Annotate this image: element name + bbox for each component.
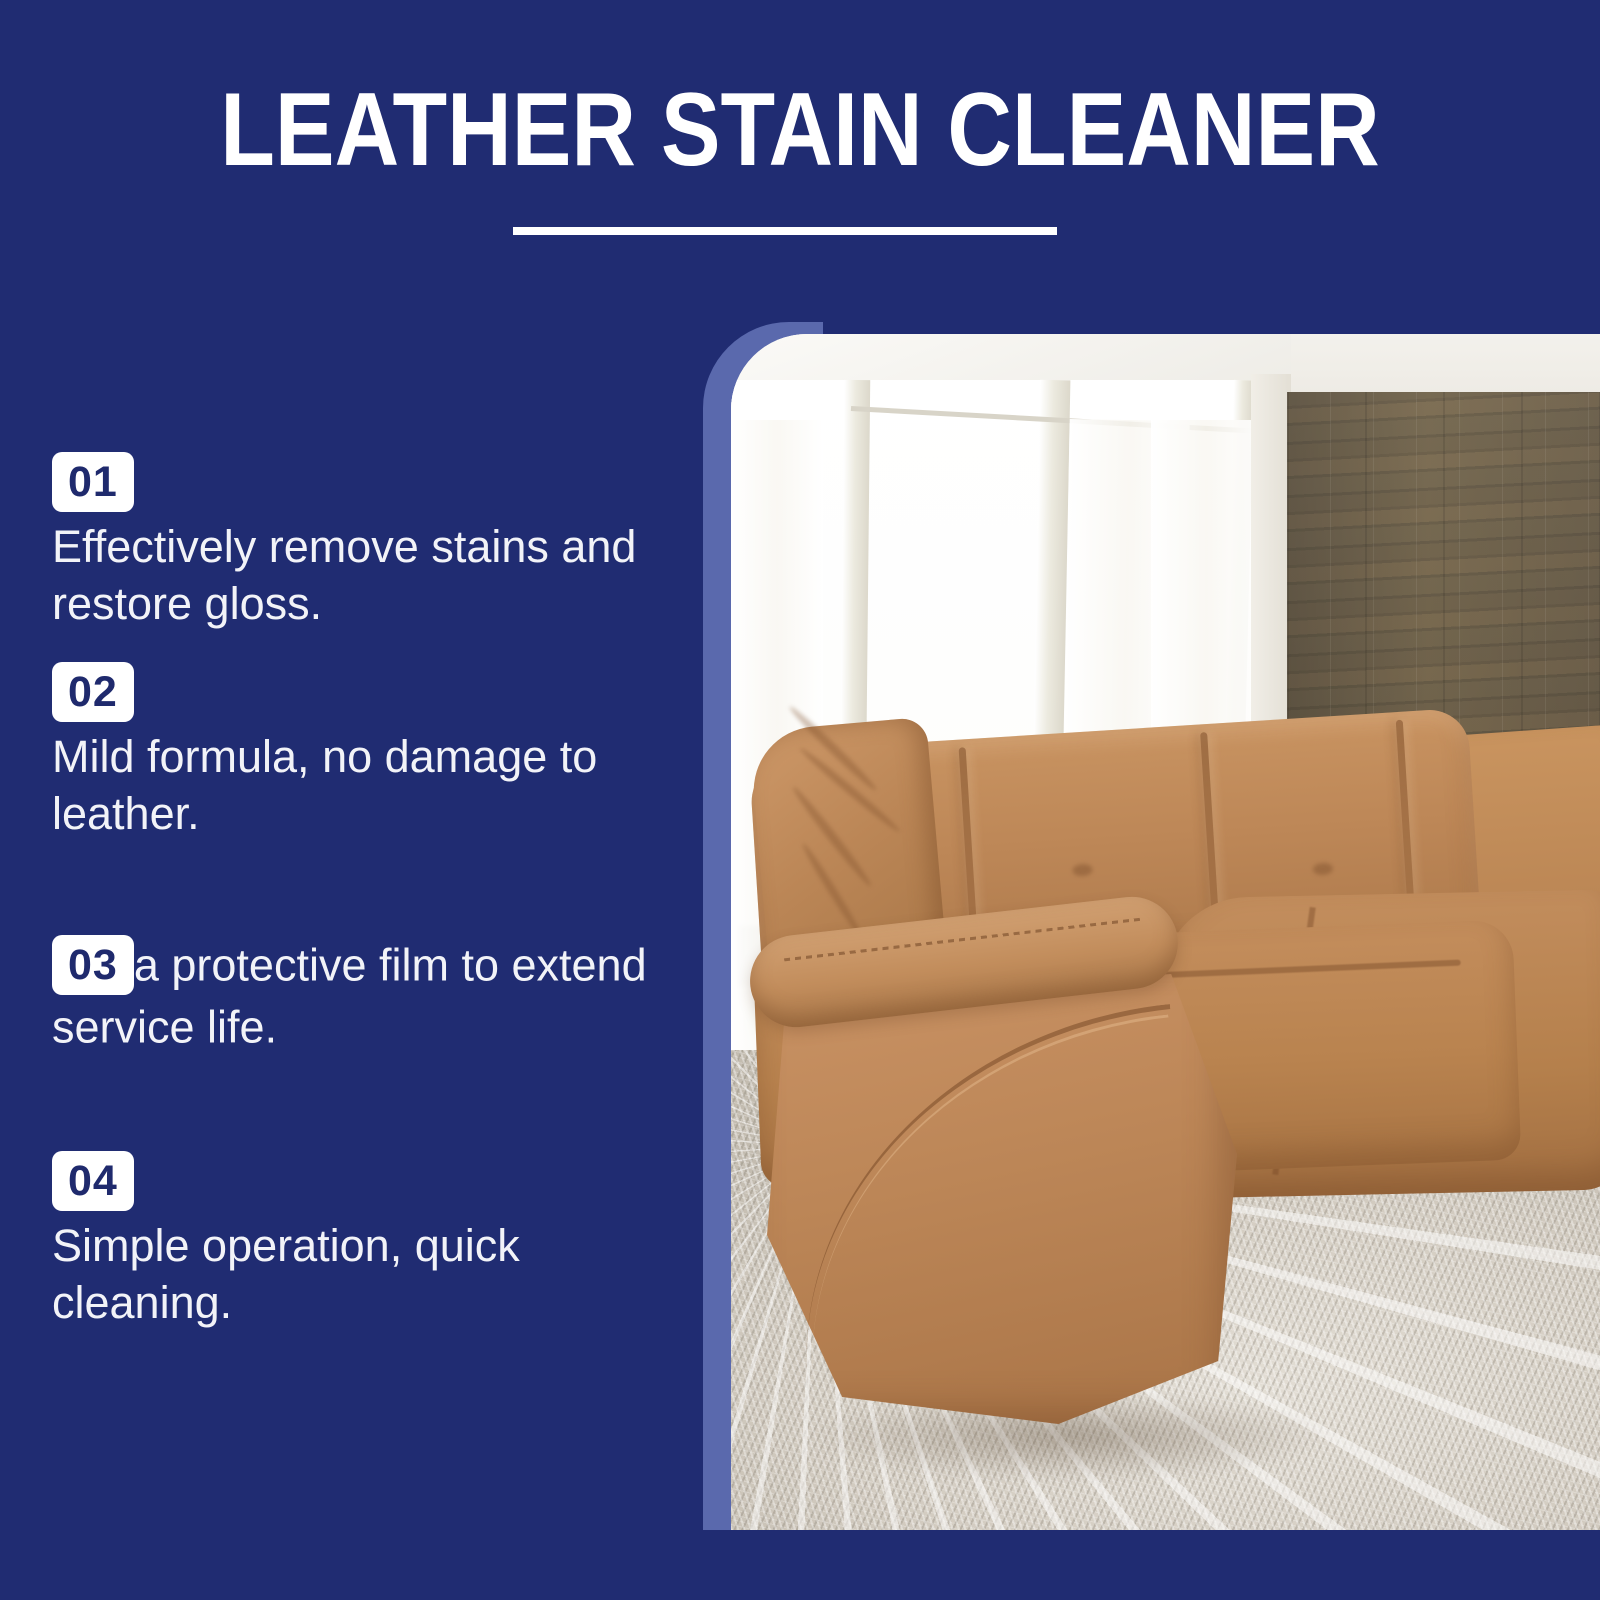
cushion-seam: [1396, 720, 1414, 900]
feature-number-badge-01: 01: [52, 452, 134, 512]
feature-item-03: 03a protective film to extend service li…: [52, 933, 652, 1056]
feature-item-01: 01 Effectively remove stains and restore…: [52, 452, 652, 632]
cushion-tuft: [1072, 863, 1093, 876]
poster-canvas: LEATHER STAIN CLEANER 01 Effectively rem…: [0, 0, 1600, 1600]
feature-item-04: 04 Simple operation, quick cleaning.: [52, 1151, 652, 1331]
feature-number-badge-03: 03: [52, 935, 134, 995]
page-title: LEATHER STAIN CLEANER: [112, 0, 1488, 182]
poster-header: LEATHER STAIN CLEANER: [0, 0, 1600, 182]
feature-spacer-a: [52, 873, 652, 933]
feature-text-01: Effectively remove stains and restore gl…: [52, 518, 642, 632]
feature-spacer-b: [52, 1081, 652, 1151]
feature-text-04: Simple operation, quick cleaning.: [52, 1217, 642, 1331]
feature-number-badge-04: 04: [52, 1151, 134, 1211]
feature-list: 01 Effectively remove stains and restore…: [52, 452, 652, 1362]
cushion-tuft: [1313, 862, 1334, 875]
feature-text-02: Mild formula, no damage to leather.: [52, 728, 642, 842]
feature-item-02: 02 Mild formula, no damage to leather.: [52, 662, 652, 842]
leather-sofa: [731, 334, 1600, 1530]
product-photo: [731, 334, 1600, 1530]
feature-text-03: a protective film to extend service life…: [52, 939, 647, 1052]
feature-inline-wrap-03: 03a protective film to extend service li…: [52, 933, 652, 1056]
title-divider: [513, 227, 1057, 235]
living-room-scene: [731, 334, 1600, 1530]
feature-number-badge-02: 02: [52, 662, 134, 722]
